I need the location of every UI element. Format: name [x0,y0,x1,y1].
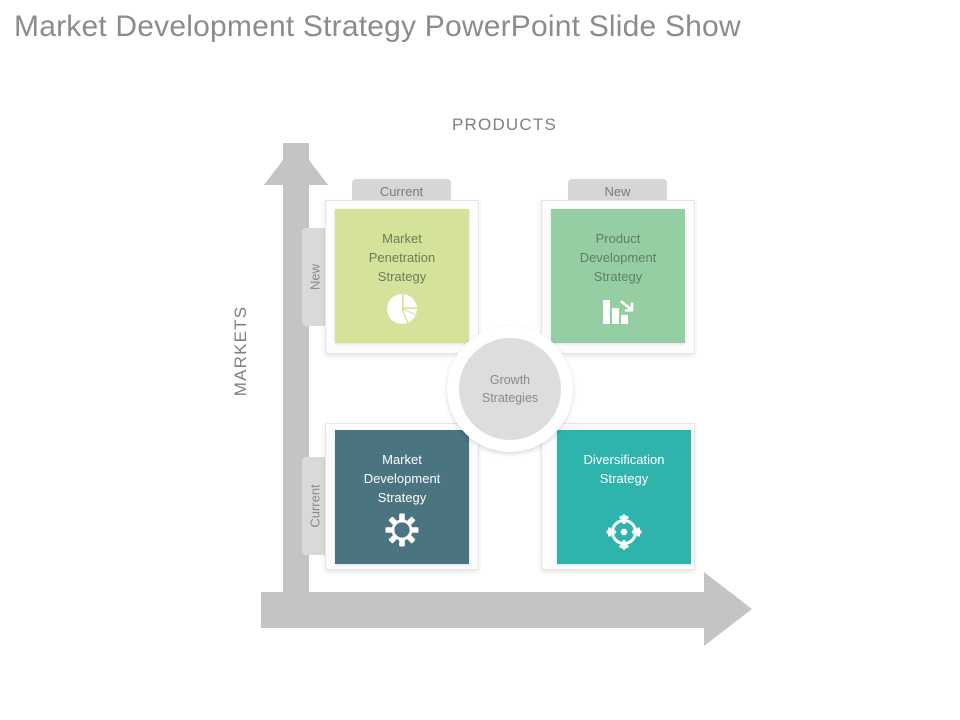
quadrant-label-line1: Product [555,229,681,248]
quadrant-diversification-label: Diversification Strategy [561,450,687,488]
quadrant-label-line1: Market [339,229,465,248]
products-axis-title: PRODUCTS [452,115,557,135]
quadrant-label-line3: Strategy [555,267,681,286]
products-axis-arrowhead [704,572,752,646]
quadrant-label-line2: Development [555,248,681,267]
row-header-current-label: Current [308,484,323,527]
quadrant-label-line1: Market [339,450,465,469]
quadrant-label-line2: Strategy [561,469,687,488]
page-title: Market Development Strategy PowerPoint S… [14,10,741,44]
quadrant-market-development[interactable]: Market Development Strategy [335,430,469,564]
quadrant-market-penetration[interactable]: Market Penetration Strategy [335,209,469,343]
products-axis-bar [261,592,721,628]
center-label-line2: Strategies [482,389,538,407]
quadrant-product-development-label: Product Development Strategy [555,229,681,286]
row-header-new-label: New [308,264,323,290]
center-growth-strategies[interactable]: Growth Strategies [459,338,561,440]
quadrant-label-line2: Development [339,469,465,488]
quadrant-label-line3: Strategy [339,267,465,286]
center-label-line1: Growth [490,371,530,389]
quadrant-label-line1: Diversification [561,450,687,469]
bar-chart-arrow-icon [600,291,636,327]
quadrant-label-line2: Penetration [339,248,465,267]
gear-icon [384,512,420,548]
markets-axis-title: MARKETS [231,291,251,411]
pie-chart-icon [384,291,420,327]
quadrant-market-development-label: Market Development Strategy [339,450,465,507]
slide-canvas: Market Development Strategy PowerPoint S… [0,0,960,720]
quadrant-diversification[interactable]: Diversification Strategy [557,430,691,564]
quadrant-product-development[interactable]: Product Development Strategy [551,209,685,343]
target-crosshair-icon [606,514,642,550]
quadrant-label-line3: Strategy [339,488,465,507]
quadrant-market-penetration-label: Market Penetration Strategy [339,229,465,286]
markets-axis-bar [283,143,309,628]
